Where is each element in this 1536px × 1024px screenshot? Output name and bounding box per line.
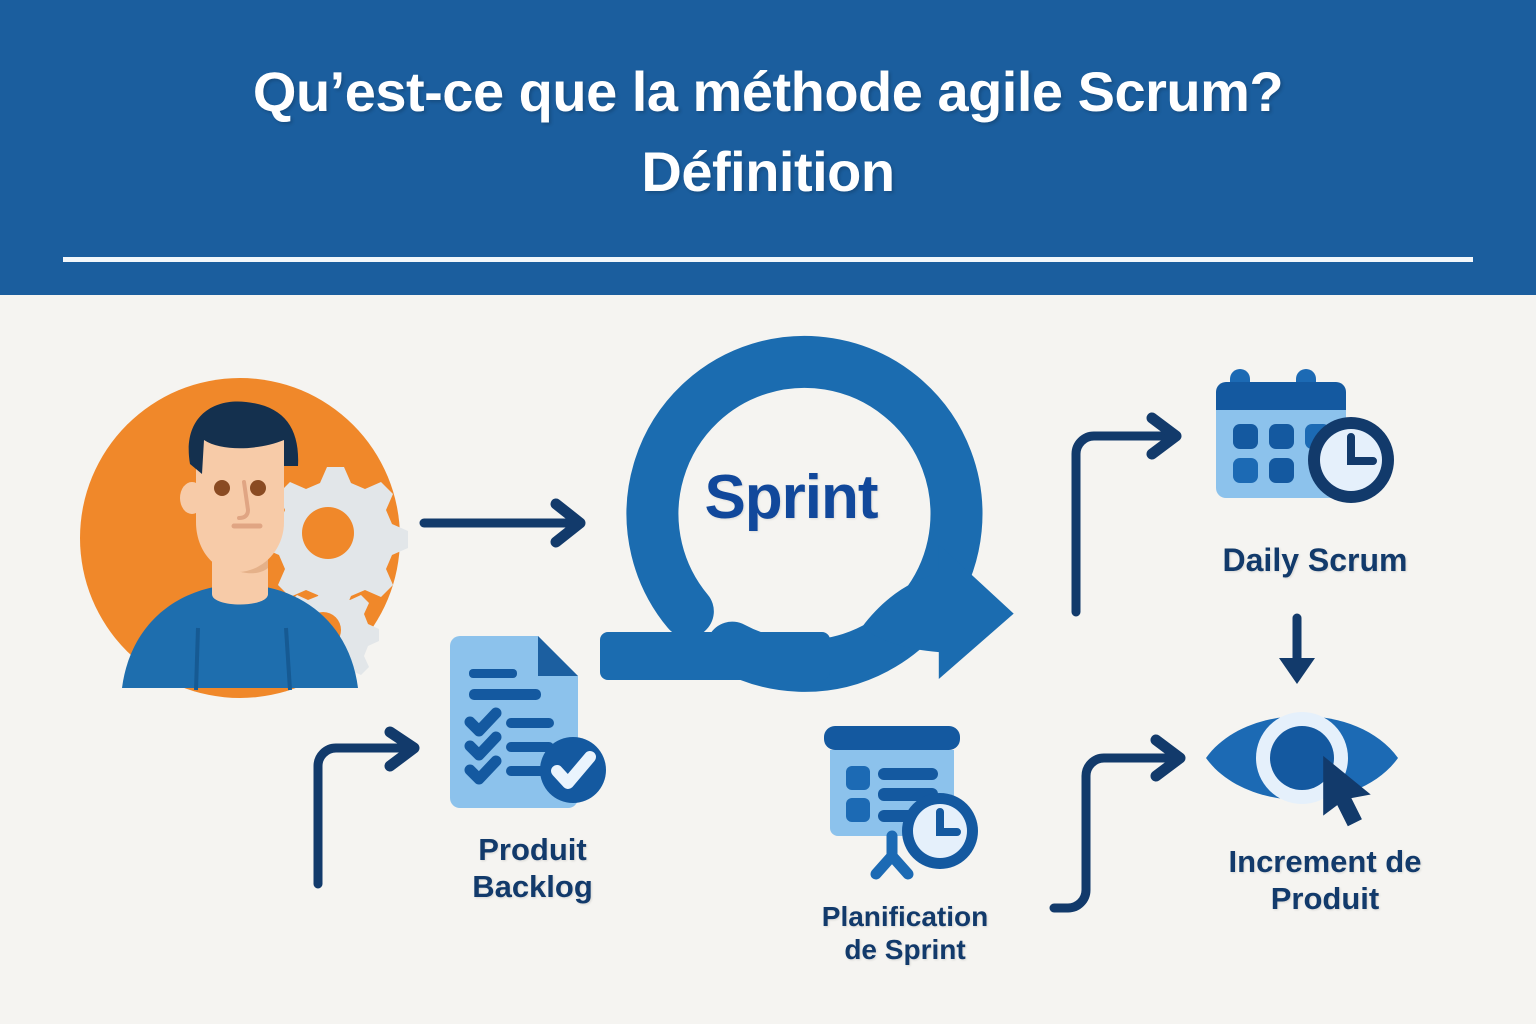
sprint-center-label: Sprint xyxy=(596,462,986,533)
eye-cursor-icon xyxy=(1200,696,1430,826)
arrow-down-icon xyxy=(1272,614,1322,694)
elbow-arrow-up-right-icon xyxy=(310,738,430,888)
tripod-stand xyxy=(876,836,908,874)
face xyxy=(196,436,284,572)
arrow-right-icon xyxy=(420,498,600,548)
calendar-header xyxy=(1216,382,1346,410)
elbow-arrow-up-right-icon xyxy=(1068,426,1188,616)
sprint-planning-label: Planification de Sprint xyxy=(760,900,1050,966)
board-top-bar xyxy=(824,726,960,750)
document-checklist-icon xyxy=(444,636,619,816)
header-banner: Qu’est-ce que la méthode agile Scrum? Dé… xyxy=(0,0,1536,295)
infographic-canvas: Qu’est-ce que la méthode agile Scrum? Dé… xyxy=(0,0,1536,1024)
eye-right xyxy=(250,480,266,496)
header-divider xyxy=(63,257,1473,262)
daily-scrum-label: Daily Scrum xyxy=(1170,542,1460,580)
elbow-arrow-up-right-icon xyxy=(1050,748,1195,913)
page-title: Qu’est-ce que la méthode agile Scrum? Dé… xyxy=(0,52,1536,211)
loop-tail xyxy=(600,632,830,680)
presentation-board-clock-icon xyxy=(812,726,997,886)
eye-left xyxy=(214,480,230,496)
product-backlog-label: Produit Backlog xyxy=(415,832,650,905)
scrum-team-icon xyxy=(70,378,410,698)
calendar-clock-icon xyxy=(1208,362,1418,522)
product-increment-label: Increment de Produit xyxy=(1175,844,1475,917)
folded-corner xyxy=(538,636,578,676)
